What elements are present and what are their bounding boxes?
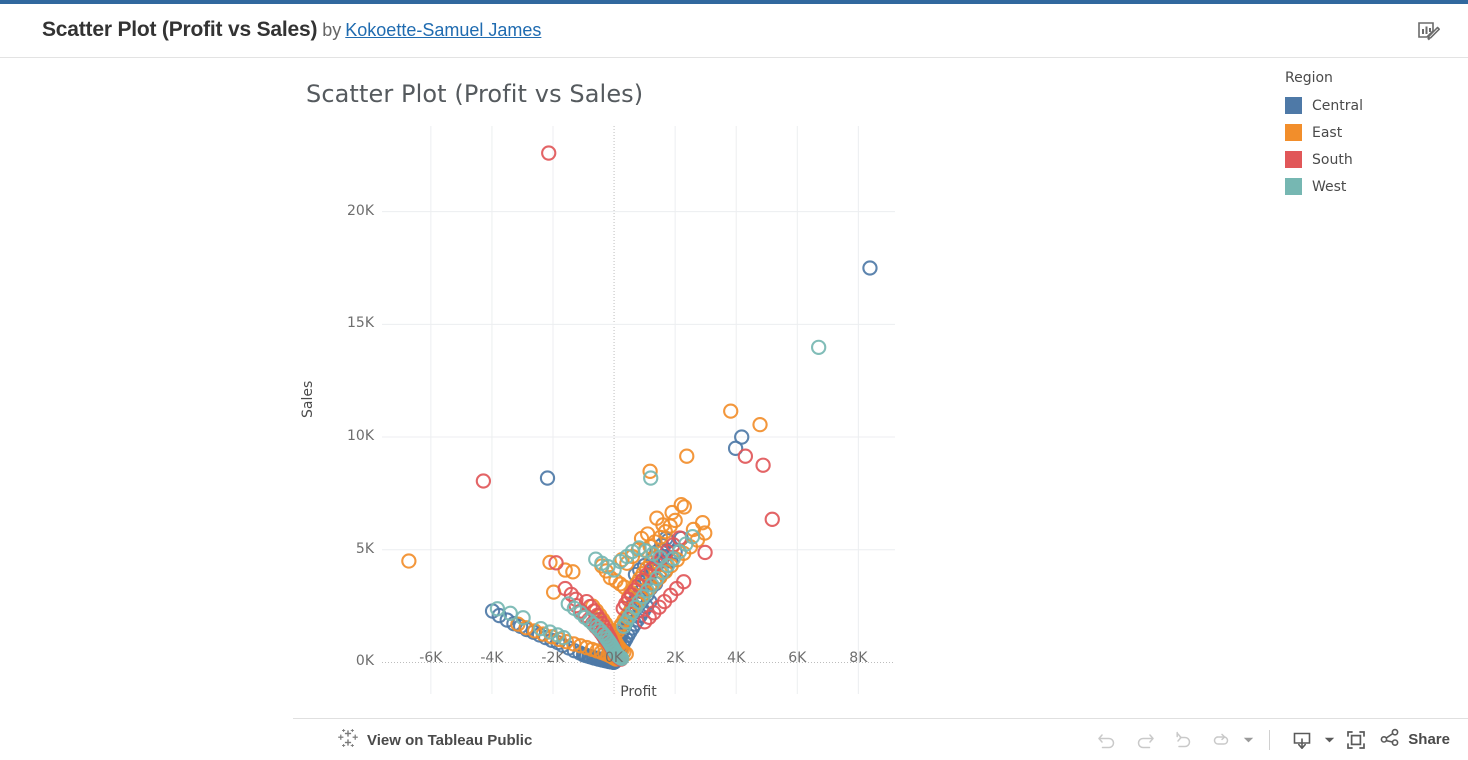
y-tick-label: 20K — [347, 203, 374, 219]
download-icon[interactable] — [1283, 721, 1321, 759]
scatter-series-central[interactable] — [486, 261, 877, 668]
download-chevron-down-icon[interactable] — [1321, 721, 1337, 759]
scatter-point[interactable] — [863, 261, 876, 274]
legend-item-label: Central — [1312, 98, 1363, 114]
workbook-author-link[interactable]: Kokoette-Samuel James — [345, 20, 541, 40]
viz-container: Scatter Plot (Profit vs Sales) Sales 0K5… — [0, 58, 1468, 718]
toolbar-actions: Share — [1088, 719, 1460, 760]
legend-item-label: West — [1312, 179, 1346, 195]
scatter-plot-svg — [382, 126, 895, 694]
color-legend: Region CentralEastSouthWest — [1285, 70, 1445, 200]
refresh-icon[interactable] — [1202, 721, 1240, 759]
workbook-title-group: Scatter Plot (Profit vs Sales)byKokoette… — [42, 18, 541, 42]
scatter-point[interactable] — [724, 405, 737, 418]
y-tick-label: 10K — [347, 428, 374, 444]
scatter-point[interactable] — [402, 554, 415, 567]
redo-icon[interactable] — [1126, 721, 1164, 759]
scatter-point[interactable] — [477, 474, 490, 487]
scatter-point[interactable] — [812, 341, 825, 354]
chart-title: Scatter Plot (Profit vs Sales) — [306, 80, 643, 108]
view-on-tableau-public-label: View on Tableau Public — [367, 732, 532, 749]
x-axis-ticks: -6K-4K-2K0K2K4K6K8K — [382, 650, 895, 674]
legend-item-label: South — [1312, 152, 1353, 168]
scatter-series-west[interactable] — [491, 341, 825, 665]
legend-item-west[interactable]: West — [1285, 173, 1445, 200]
workbook-title: Scatter Plot (Profit vs Sales) — [42, 18, 317, 41]
refresh-chevron-down-icon[interactable] — [1240, 721, 1256, 759]
share-button[interactable]: Share — [1375, 721, 1460, 759]
y-axis-ticks: 0K5K10K15K20K — [322, 126, 374, 694]
legend-swatch-icon — [1285, 178, 1302, 195]
scatter-point[interactable] — [739, 450, 752, 463]
scatter-point[interactable] — [753, 418, 766, 431]
edit-viz-icon[interactable] — [1416, 20, 1442, 46]
x-tick-label: 8K — [849, 650, 867, 666]
x-tick-label: -6K — [419, 650, 442, 666]
scatter-point[interactable] — [566, 565, 579, 578]
legend-title: Region — [1285, 70, 1445, 86]
workbook-by-label: by — [322, 20, 341, 40]
y-tick-label: 15K — [347, 315, 374, 331]
undo-icon[interactable] — [1088, 721, 1126, 759]
toolbar-divider — [1269, 730, 1270, 750]
legend-swatch-icon — [1285, 97, 1302, 114]
y-axis-title: Sales — [300, 381, 316, 418]
scatter-point[interactable] — [698, 546, 711, 559]
legend-item-south[interactable]: South — [1285, 146, 1445, 173]
workbook-header: Scatter Plot (Profit vs Sales)byKokoette… — [0, 4, 1468, 58]
scatter-point[interactable] — [766, 513, 779, 526]
share-label: Share — [1408, 731, 1450, 748]
tableau-logo-icon — [338, 728, 358, 753]
x-tick-label: -4K — [480, 650, 503, 666]
share-icon — [1379, 726, 1401, 753]
x-tick-label: -2K — [541, 650, 564, 666]
x-axis-title: Profit — [382, 684, 895, 700]
legend-swatch-icon — [1285, 151, 1302, 168]
scatter-point[interactable] — [665, 506, 678, 519]
legend-item-central[interactable]: Central — [1285, 92, 1445, 119]
legend-item-label: East — [1312, 125, 1342, 141]
x-tick-label: 4K — [727, 650, 745, 666]
x-tick-label: 6K — [788, 650, 806, 666]
fullscreen-icon[interactable] — [1337, 721, 1375, 759]
scatter-point[interactable] — [541, 471, 554, 484]
legend-item-east[interactable]: East — [1285, 119, 1445, 146]
revert-icon[interactable] — [1164, 721, 1202, 759]
legend-swatch-icon — [1285, 124, 1302, 141]
view-on-tableau-public-link[interactable]: View on Tableau Public — [338, 728, 532, 753]
y-tick-label: 0K — [356, 653, 374, 669]
viz-toolbar: View on Tableau Public — [293, 718, 1468, 760]
scatter-series-east[interactable] — [402, 405, 766, 666]
legend-items: CentralEastSouthWest — [1285, 92, 1445, 200]
y-tick-label: 5K — [356, 541, 374, 557]
scatter-point[interactable] — [680, 450, 693, 463]
scatter-point[interactable] — [756, 459, 769, 472]
x-tick-label: 2K — [666, 650, 684, 666]
x-tick-label: 0K — [605, 650, 623, 666]
scatter-plot-area[interactable] — [382, 126, 895, 694]
